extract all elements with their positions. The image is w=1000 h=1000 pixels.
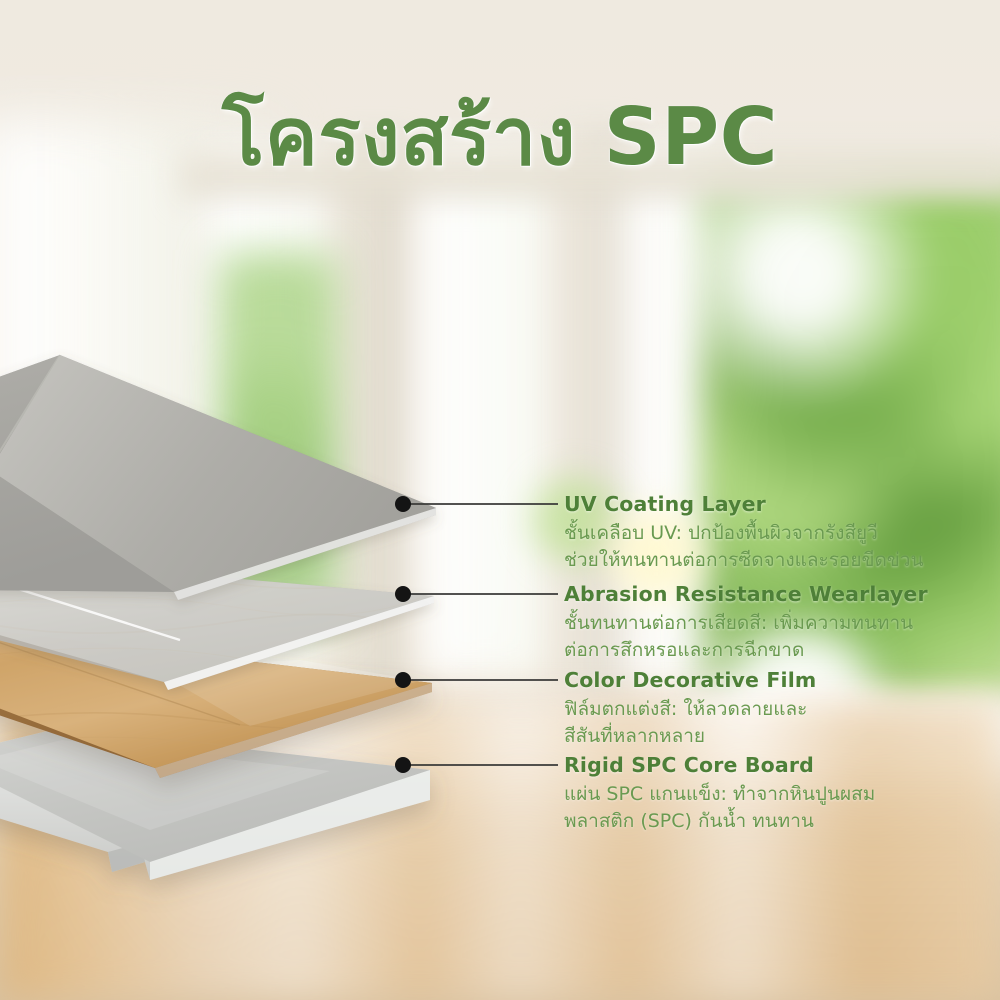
callout-title: Abrasion Resistance Wearlayer <box>564 583 994 607</box>
callout-description: ชั้นทนทานต่อการเสียดสี: เพิ่มความทนทาน ต… <box>564 610 994 664</box>
callout-description-line: แผ่น SPC แกนแข็ง: ทำจากหินปูนผสม <box>564 781 994 808</box>
callout-core-board: Rigid SPC Core Board แผ่น SPC แกนแข็ง: ท… <box>564 754 994 835</box>
callout-title: Color Decorative Film <box>564 669 994 693</box>
callout-description-line: ช่วยให้ทนทานต่อการซีดจางและรอยขีดข่วน <box>564 547 994 574</box>
callout-title: Rigid SPC Core Board <box>564 754 994 778</box>
infographic-canvas: โครงสร้าง SPC <box>0 0 1000 1000</box>
layer-uv-coating <box>0 355 436 600</box>
callout-description-line: ต่อการสึกหรอและการฉีกขาด <box>564 637 994 664</box>
callout-description: ฟิล์มตกแต่งสี: ให้ลวดลายและ สีสันที่หลาก… <box>564 696 994 750</box>
callout-title: UV Coating Layer <box>564 493 994 517</box>
callout-description-line: ชั้นทนทานต่อการเสียดสี: เพิ่มความทนทาน <box>564 610 994 637</box>
callout-description-line: ชั้นเคลือบ UV: ปกป้องพื้นผิวจากรังสียูวี <box>564 520 994 547</box>
callout-uv-coating: UV Coating Layer ชั้นเคลือบ UV: ปกป้องพื… <box>564 493 994 574</box>
callout-decorative-film: Color Decorative Film ฟิล์มตกแต่งสี: ให้… <box>564 669 994 750</box>
callout-leaders <box>395 496 558 773</box>
callout-description-line: ฟิล์มตกแต่งสี: ให้ลวดลายและ <box>564 696 994 723</box>
callout-description-line: พลาสติก (SPC) กันน้ำ ทนทาน <box>564 808 994 835</box>
callout-description-line: สีสันที่หลากหลาย <box>564 723 994 750</box>
callout-wearlayer: Abrasion Resistance Wearlayer ชั้นทนทานต… <box>564 583 994 664</box>
callout-description: แผ่น SPC แกนแข็ง: ทำจากหินปูนผสม พลาสติก… <box>564 781 994 835</box>
callout-description: ชั้นเคลือบ UV: ปกป้องพื้นผิวจากรังสียูวี… <box>564 520 994 574</box>
